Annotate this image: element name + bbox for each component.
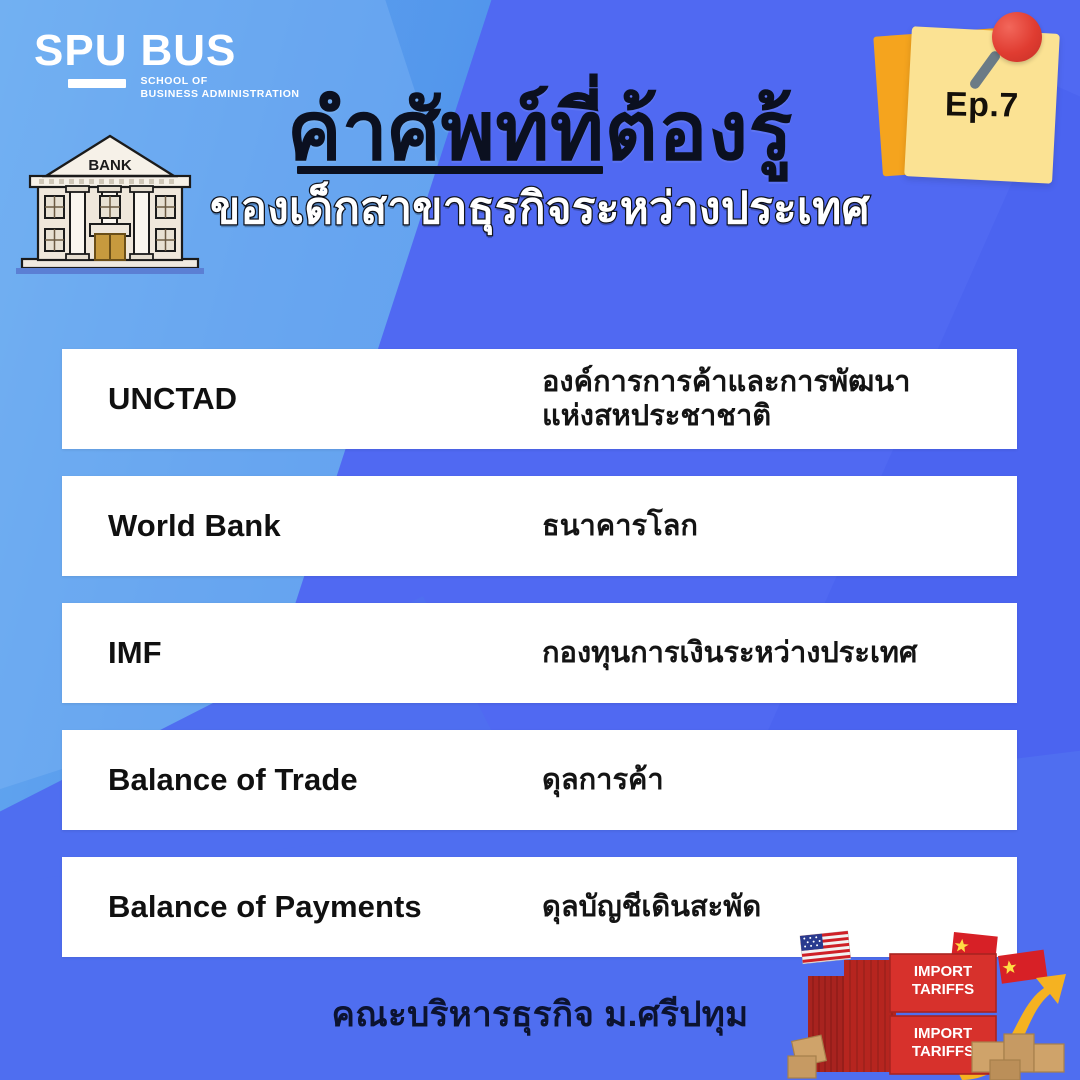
definition-line-1: กองทุนการเงินระหว่างประเทศ [542,636,1001,670]
container-top-label-line1: IMPORT [914,963,972,980]
definition-line-1: องค์การการค้าและการพัฒนา [542,365,1001,399]
us-flag-icon [800,931,851,964]
episode-badge: Ep.7 [860,8,1070,203]
import-tariffs-illustration: IMPORT TARIFFS IMPORT TARIFFS [786,930,1078,1080]
definition-cell: ดุลบัญชีเดินสะพัด [542,890,1017,924]
pushpin-head-icon [992,12,1042,62]
definition-line-1: ดุลการค้า [542,763,1001,797]
term-cell: World Bank [62,508,542,544]
logo-underbar [68,79,126,88]
episode-label: Ep.7 [945,85,1019,125]
spu-bus-logo: SPU BUS SCHOOL OF BUSINESS ADMINISTRATIO… [34,30,300,101]
container-bottom-label-line1: IMPORT [914,1025,972,1042]
container-bottom-label-line2: TARIFFS [912,1043,974,1060]
poster-canvas: SPU BUS SCHOOL OF BUSINESS ADMINISTRATIO… [0,0,1080,1080]
page-title-underline [297,166,603,174]
table-row: UNCTAD องค์การการค้าและการพัฒนา แห่งสหปร… [62,349,1017,449]
definition-line-1: ธนาคารโลก [542,509,1001,543]
table-row: Balance of Trade ดุลการค้า [62,730,1017,830]
definition-cell: องค์การการค้าและการพัฒนา แห่งสหประชาชาติ [542,365,1017,433]
logo-subtitle-line1: SCHOOL OF [140,75,299,88]
table-row: IMF กองทุนการเงินระหว่างประเทศ [62,603,1017,703]
term-cell: IMF [62,635,542,671]
term-cell: Balance of Trade [62,762,542,798]
container-top-label-line2: TARIFFS [912,981,974,998]
vocabulary-table: UNCTAD องค์การการค้าและการพัฒนา แห่งสหปร… [62,349,1017,984]
definition-line-2: แห่งสหประชาชาติ [542,399,1001,433]
logo-spu-text: SPU [34,30,127,72]
page-title: คำศัพท์ที่ต้องรู้ [275,92,805,172]
logo-bus-text: BUS [140,30,299,72]
definition-cell: ดุลการค้า [542,763,1017,797]
definition-cell: กองทุนการเงินระหว่างประเทศ [542,636,1017,670]
table-row: World Bank ธนาคารโลก [62,476,1017,576]
term-cell: UNCTAD [62,381,542,417]
term-cell: Balance of Payments [62,889,542,925]
definition-cell: ธนาคารโลก [542,509,1017,543]
definition-line-1: ดุลบัญชีเดินสะพัด [542,890,1001,924]
